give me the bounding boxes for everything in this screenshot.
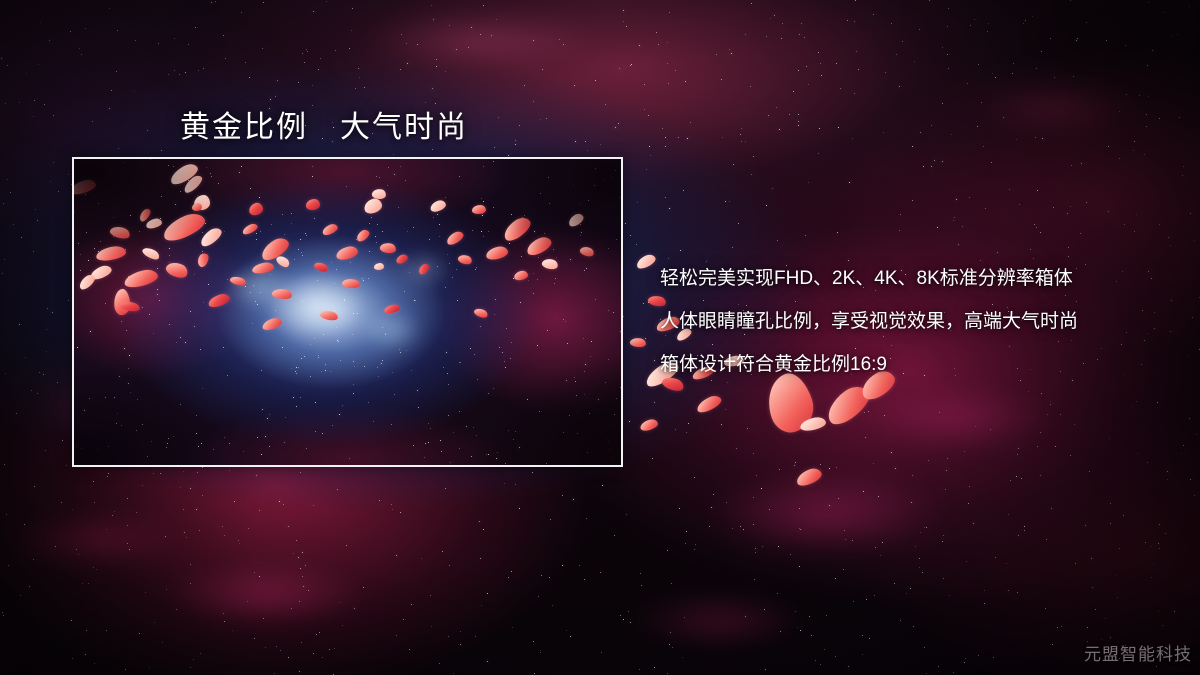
body-line-2: 人体眼睛瞳孔比例，享受视觉效果，高端大气时尚 <box>660 300 1160 343</box>
framed-image-vignette <box>74 159 621 465</box>
body-line-1: 轻松完美实现FHD、2K、4K、8K标准分辨率箱体 <box>660 257 1160 300</box>
presentation-slide: 黄金比例 大气时尚 轻松完美实现FHD、2K、4K、8K标准分辨率箱体 人体眼睛… <box>0 0 1200 675</box>
body-line-3: 箱体设计符合黄金比例16:9 <box>660 343 1160 386</box>
framed-image-content <box>74 159 621 465</box>
page-title: 黄金比例 大气时尚 <box>180 102 468 146</box>
framed-image <box>72 157 623 467</box>
watermark: 元盟智能科技 <box>1084 640 1192 665</box>
body-copy: 轻松完美实现FHD、2K、4K、8K标准分辨率箱体 人体眼睛瞳孔比例，享受视觉效… <box>660 257 1160 386</box>
